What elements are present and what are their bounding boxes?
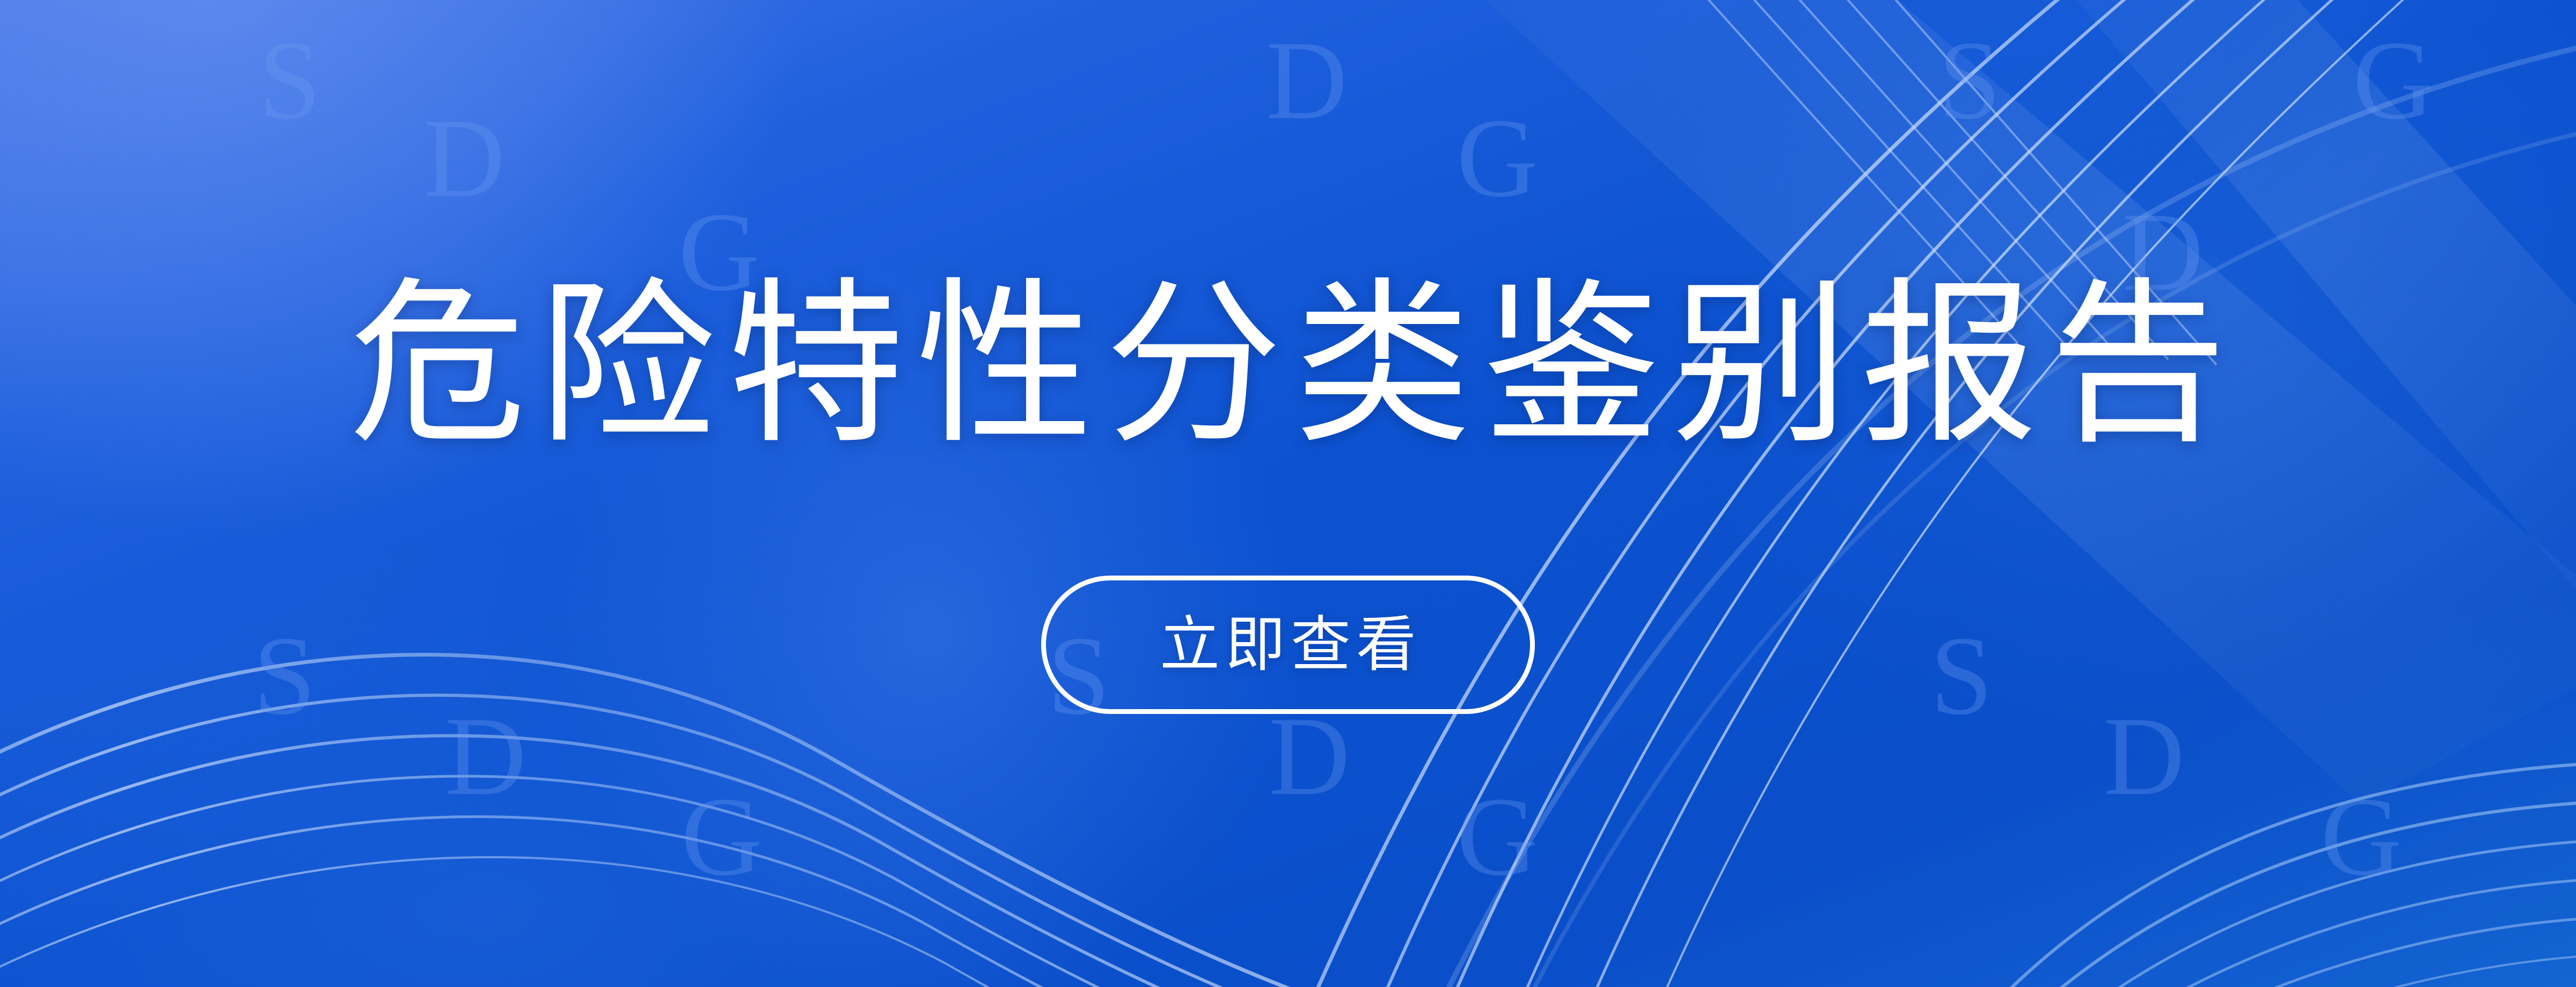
view-now-button[interactable]: 立即查看 bbox=[1041, 576, 1535, 714]
page-title: 危险特性分类鉴别报告 bbox=[0, 268, 2576, 461]
banner-content: 危险特性分类鉴别报告 立即查看 bbox=[0, 0, 2576, 987]
promo-banner: SDSGDGGDSSSDDDGGG 危险特性分类鉴别报告 立即查看 bbox=[0, 0, 2576, 987]
